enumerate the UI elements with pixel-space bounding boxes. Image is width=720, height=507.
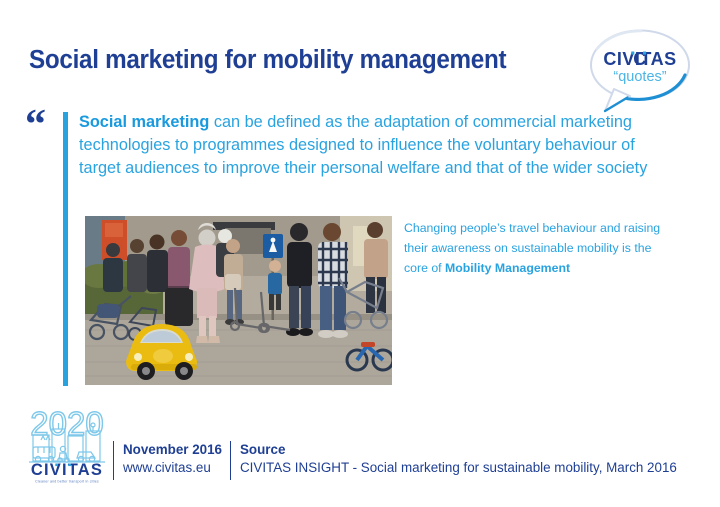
footer-date: November 2016 <box>123 441 228 459</box>
slide-canvas: Social marketing for mobility management… <box>0 0 720 507</box>
logo-civitas-text: CIVITAS <box>31 461 103 479</box>
quote-accent-bar <box>63 112 68 386</box>
quotes-logo-civitas-text: CIVITAS <box>603 49 676 69</box>
footer-divider-1 <box>113 441 114 480</box>
footer-source-block: Source CIVITAS INSIGHT - Social marketin… <box>240 441 710 477</box>
quote-lead-text: Social marketing <box>79 113 209 131</box>
footer-website[interactable]: www.civitas.eu <box>123 459 228 477</box>
photo-illustration <box>85 216 392 385</box>
footer-divider-2 <box>230 441 231 480</box>
quote-mark-icon: “ <box>25 104 44 146</box>
quote-text: Social marketing can be defined as the a… <box>79 111 651 180</box>
photo-caption-emphasis: Mobility Management <box>445 261 570 275</box>
footer-source-text: CIVITAS INSIGHT - Social marketing for s… <box>240 459 710 477</box>
quotes-logo-sub-text: “quotes” <box>613 69 666 85</box>
page-title: Social marketing for mobility management <box>29 46 561 74</box>
photo-caption: Changing people’s travel behaviour and r… <box>404 219 676 279</box>
slide-footer: 2020 <box>0 400 720 507</box>
footer-source-label: Source <box>240 441 710 459</box>
logo-tagline-text: Cleaner and better transport in cities <box>35 480 99 484</box>
street-scene-photo <box>85 216 392 385</box>
civitas-2020-mark-icon: 2020 <box>19 405 115 487</box>
civitas-quotes-logo: C x CIVITAS “quotes” <box>586 27 694 113</box>
speech-bubble-icon: C x CIVITAS “quotes” <box>586 27 694 113</box>
civitas-2020-logo: 2020 <box>19 405 115 487</box>
footer-date-block: November 2016 www.civitas.eu <box>123 441 228 477</box>
